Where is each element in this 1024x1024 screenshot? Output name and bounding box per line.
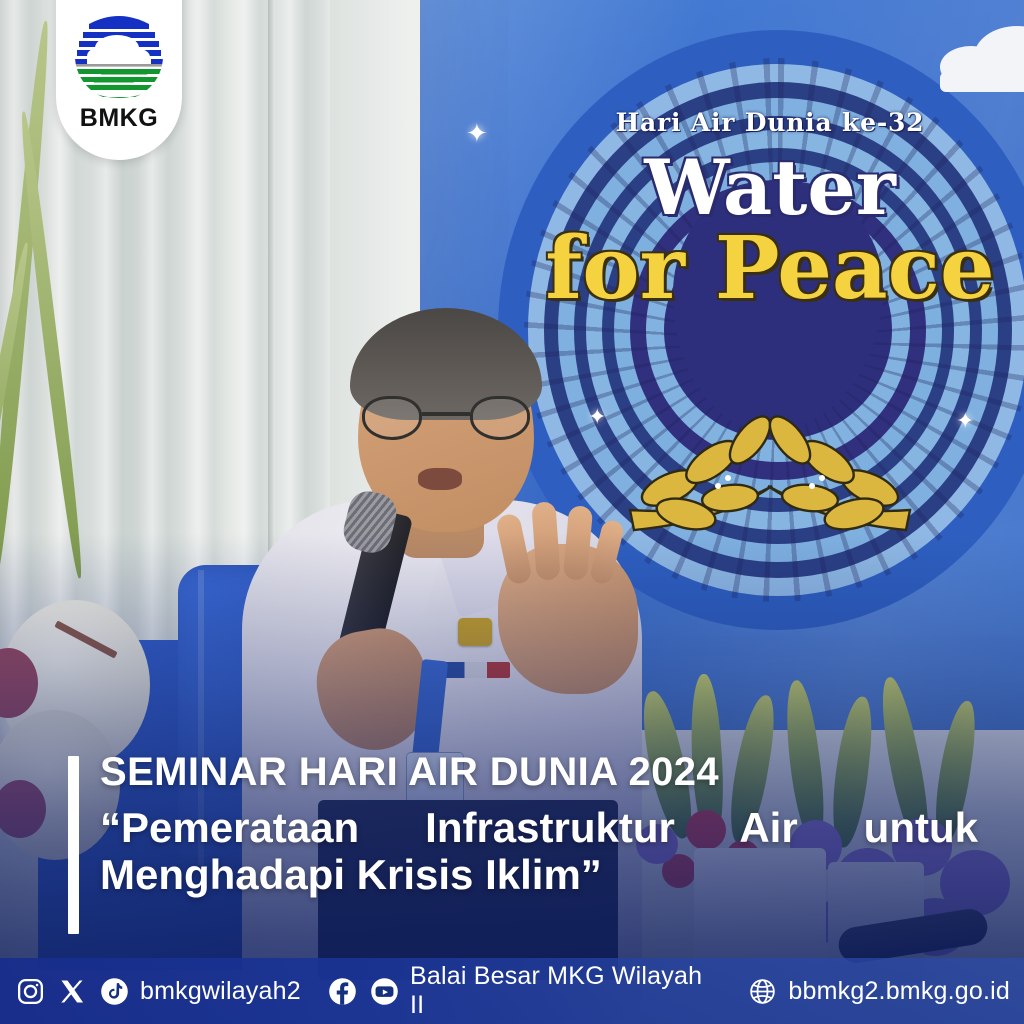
uniform-emblem-badge <box>458 618 492 646</box>
facebook-icon[interactable] <box>327 975 359 1007</box>
laurel-branch-icon <box>600 390 940 545</box>
banner-headline-for-peace: for Peace <box>420 228 1024 310</box>
page-name-text: Balai Besar MKG Wilayah II <box>410 962 721 1020</box>
tiktok-icon[interactable] <box>98 975 130 1007</box>
mouth <box>418 468 462 490</box>
bmkg-logo-badge: BMKG <box>56 0 182 160</box>
poster-root: Hari Air Dunia ke-32 Water for Peace <box>0 0 1024 1024</box>
sparkle-icon: ✦ <box>466 120 488 146</box>
sparkle-icon: ✦ <box>956 410 974 432</box>
social-handle-text: bmkgwilayah2 <box>140 977 301 1006</box>
subtitle-line-1: “Pemerataan Infrastruktur Air untuk <box>100 804 978 851</box>
social-handles-group: bmkgwilayah2 <box>14 975 301 1007</box>
instagram-icon[interactable] <box>14 975 46 1007</box>
website-group: bbmkg2.bmkg.go.id <box>746 975 1010 1007</box>
website-text: bbmkg2.bmkg.go.id <box>788 977 1010 1006</box>
globe-icon[interactable] <box>746 975 778 1007</box>
bmkg-cloud-land-logo-icon <box>73 10 165 102</box>
title-block: SEMINAR HARI AIR DUNIA 2024 “Pemerataan … <box>100 752 1000 898</box>
title-accent-bar <box>68 756 79 934</box>
eyeglasses-icon <box>362 396 530 440</box>
subtitle-line-2: Menghadapi Krisis Iklim” <box>100 851 602 898</box>
uniform-ribbon-bar <box>442 662 510 678</box>
bmkg-logo-text: BMKG <box>56 104 182 133</box>
youtube-icon[interactable] <box>368 975 400 1007</box>
x-twitter-icon[interactable] <box>56 975 88 1007</box>
banner-headline-water: Water <box>420 152 1024 224</box>
page-subtitle: “Pemerataan Infrastruktur Air untuk Meng… <box>100 804 980 898</box>
banner-eyebrow: Hari Air Dunia ke-32 <box>420 108 1024 137</box>
page-title: SEMINAR HARI AIR DUNIA 2024 <box>100 752 1000 792</box>
footer-bar: bmkgwilayah2 Balai Besar MKG Wilayah II <box>0 958 1024 1024</box>
page-name-group: Balai Besar MKG Wilayah II <box>327 962 721 1020</box>
